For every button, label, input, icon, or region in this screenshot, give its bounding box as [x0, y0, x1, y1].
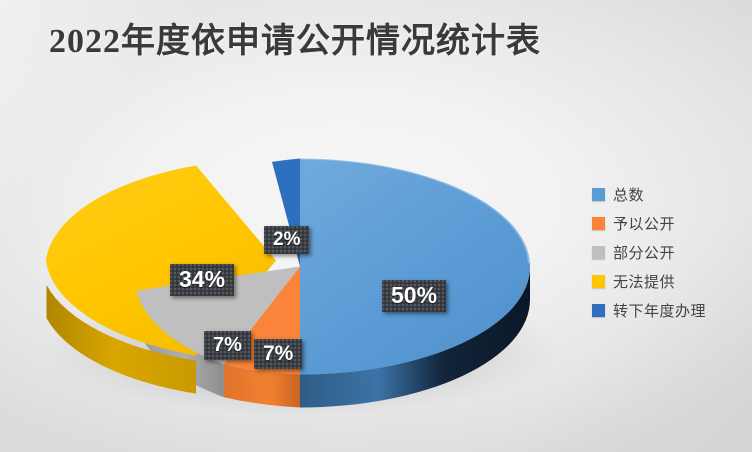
data-label-unable: 34%: [170, 264, 234, 296]
legend-label-total: 总数: [613, 184, 644, 205]
legend-label-part: 部分公开: [613, 242, 675, 263]
legend-swatch-icon: [592, 304, 605, 317]
chart-title: 2022年度依申请公开情况统计表: [0, 13, 590, 62]
legend-item-total[interactable]: 总数: [592, 184, 706, 204]
legend-label-next-year: 转下年度办理: [613, 300, 706, 321]
data-label-next-year: 2%: [264, 226, 309, 254]
legend-swatch-icon: [592, 246, 605, 259]
legend-swatch-icon: [592, 275, 605, 288]
data-label-full: 7%: [254, 339, 302, 369]
data-label-part: 7%: [204, 331, 251, 360]
legend-label-full: 予以公开: [613, 213, 675, 234]
legend-item-part[interactable]: 部分公开: [592, 242, 706, 262]
legend-swatch-icon: [592, 188, 605, 201]
legend-swatch-icon: [592, 217, 605, 230]
pie-chart-graphic: 50% 7% 7% 34% 2%: [0, 72, 590, 422]
legend-item-full[interactable]: 予以公开: [592, 213, 706, 233]
legend-item-unable[interactable]: 无法提供: [592, 271, 706, 291]
chart-legend: 总数 予以公开 部分公开 无法提供 转下年度办理: [592, 184, 706, 320]
data-label-total: 50%: [382, 280, 446, 312]
legend-label-unable: 无法提供: [613, 271, 675, 292]
chart-canvas: 2022年度依申请公开情况统计表: [0, 0, 752, 452]
legend-item-next-year[interactable]: 转下年度办理: [592, 300, 706, 320]
